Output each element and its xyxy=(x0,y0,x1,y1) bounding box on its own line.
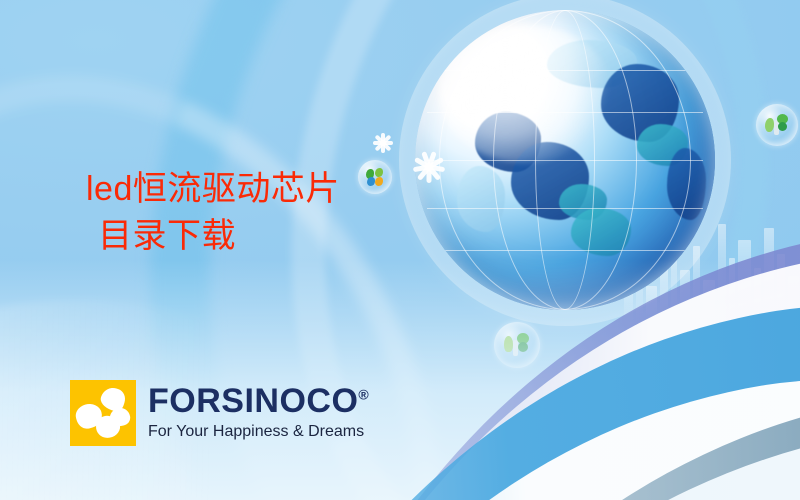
earth-globe-icon xyxy=(415,10,715,310)
bubble-windmill-right xyxy=(756,104,798,146)
logo-text-block: FORSINOCO® For Your Happiness & Dreams xyxy=(148,380,369,441)
brand-name-text: FORSINOCO xyxy=(148,382,358,420)
brand-name: FORSINOCO® xyxy=(148,384,369,418)
brand-logo: FORSINOCO® For Your Happiness & Dreams xyxy=(70,380,369,446)
windmill-icon xyxy=(504,332,530,358)
bubble-windmill-lower xyxy=(494,322,540,368)
headline: led恒流驱动芯片 目录下载 xyxy=(86,166,340,260)
brand-tagline: For Your Happiness & Dreams xyxy=(148,422,369,441)
windmill-icon xyxy=(765,113,789,137)
globe-sphere xyxy=(415,10,715,310)
headline-line-2: 目录下载 xyxy=(86,213,340,260)
promo-banner: led恒流驱动芯片 目录下载 FORSINOCO® For Your Happi… xyxy=(0,0,800,500)
bubble-windmill-upper xyxy=(358,160,392,194)
registered-mark: ® xyxy=(358,387,369,403)
headline-line-1: led恒流驱动芯片 xyxy=(86,170,340,208)
starburst-large xyxy=(412,150,446,184)
globe-rim-light xyxy=(415,10,715,310)
starburst-small xyxy=(372,132,394,154)
four-petal-flower-icon xyxy=(70,380,136,446)
windmill-icon xyxy=(365,167,385,187)
